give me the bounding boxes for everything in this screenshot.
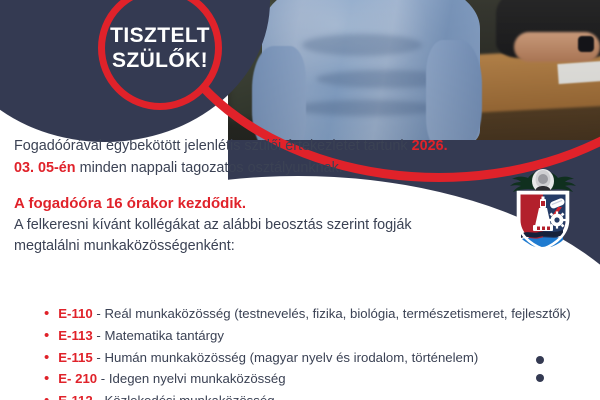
room-label: Matematika tantárgy — [104, 328, 223, 343]
bullet-icon: • — [44, 303, 49, 325]
list-item-text: E-110 - Reál munkaközösség (testnevelés,… — [58, 303, 570, 325]
list-item: • E-110 - Reál munkaközösség (testnevelé… — [44, 303, 596, 325]
list-item-text: E-113 - Matematika tantárgy — [58, 325, 224, 347]
paragraph-intro: Fogadóórával egybekötött jelenlétis szül… — [14, 136, 454, 179]
start-time-headline: A fogadóóra 16 órakor kezdődik. — [14, 193, 454, 215]
room-list: • E-110 - Reál munkaközösség (testnevelé… — [44, 303, 596, 400]
list-item-text: E- 210 - Idegen nyelvi munkaközösség — [58, 368, 285, 390]
separator: - — [97, 371, 109, 386]
badge-line-1: TISZTELT — [110, 23, 210, 48]
bullet-icon: • — [44, 390, 49, 400]
school-crest-icon — [506, 168, 580, 250]
list-item: • E-115 - Humán munkaközösség (magyar ny… — [44, 347, 596, 369]
paragraph-intro-part2: minden nappali tagozatos osztályunknak. — [76, 160, 343, 176]
list-item-text: E-112 - Közlekedési munkaközösség — [58, 390, 274, 400]
paragraph-instructions: A felkeresni kívánt kollégákat az alábbi… — [14, 215, 454, 258]
room-code: E-113 — [58, 328, 92, 343]
room-code: E-112 — [58, 393, 92, 400]
decorative-dots — [536, 356, 544, 392]
body-text-block: Fogadóórával egybekötött jelenlétis szül… — [14, 136, 454, 258]
room-code: E- 210 — [58, 371, 97, 386]
separator: - — [93, 306, 105, 321]
badge-line-2: SZÜLŐK! — [112, 48, 208, 73]
list-item: • E- 210 - Idegen nyelvi munkaközösség — [44, 368, 596, 390]
separator: - — [93, 328, 105, 343]
room-code: E-115 — [58, 350, 92, 365]
dot-icon — [536, 374, 544, 382]
bullet-icon: • — [44, 347, 49, 369]
room-code: E-110 — [58, 306, 92, 321]
room-label: Idegen nyelvi munkaközösség — [109, 371, 286, 386]
dot-icon — [536, 356, 544, 364]
room-label: Közlekedési munkaközösség — [104, 393, 274, 400]
list-item: • E-112 - Közlekedési munkaközösség — [44, 390, 596, 400]
poster-canvas: TISZTELT SZÜLŐK! — [0, 0, 600, 400]
bullet-icon: • — [44, 325, 49, 347]
paragraph-intro-part1: Fogadóórával egybekötött jelenlétis szül… — [14, 138, 412, 154]
room-label: Reál munkaközösség (testnevelés, fizika,… — [104, 306, 570, 321]
separator: - — [93, 350, 105, 365]
room-label: Humán munkaközösség (magyar nyelv és iro… — [104, 350, 478, 365]
list-item: • E-113 - Matematika tantárgy — [44, 325, 596, 347]
bullet-icon: • — [44, 368, 49, 390]
separator: - — [93, 393, 105, 400]
list-item-text: E-115 - Humán munkaközösség (magyar nyel… — [58, 347, 478, 369]
